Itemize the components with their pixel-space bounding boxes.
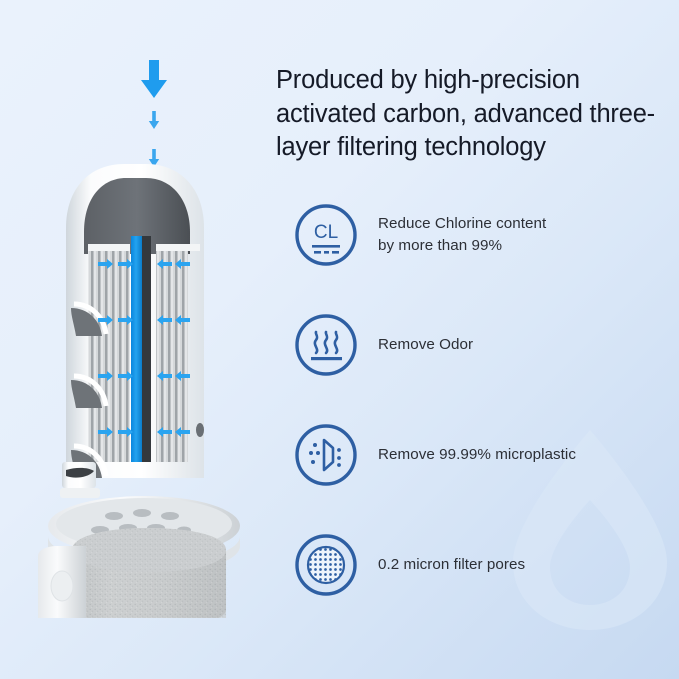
inlet-arrow-small-1-icon [147,110,161,130]
chlorine-cl-icon: CL [293,202,359,268]
feature-list: CL Reduce Chlorine content by more than … [293,200,673,600]
odor-waves-icon [293,312,359,378]
feature-row-odor: Remove Odor [293,310,673,380]
feature-label-pores: 0.2 micron filter pores [378,554,525,576]
page-title: Produced by high-precision activated car… [276,64,668,165]
feature-row-chlorine: CL Reduce Chlorine content by more than … [293,200,673,270]
feature-row-pores: 0.2 micron filter pores [293,530,673,600]
water-filter-cartridge-cutaway [14,158,269,618]
infographic-canvas: Produced by high-precision activated car… [0,0,679,679]
filter-pores-icon [293,532,359,598]
svg-text:CL: CL [314,222,338,243]
feature-label-microplastic: Remove 99.99% microplastic [378,444,576,466]
inlet-arrow-large-icon [138,58,170,100]
feature-row-microplastic: Remove 99.99% microplastic [293,420,673,490]
feature-label-chlorine: Reduce Chlorine content by more than 99% [378,213,546,256]
microplastic-filter-icon [293,422,359,488]
feature-label-odor: Remove Odor [378,334,473,356]
